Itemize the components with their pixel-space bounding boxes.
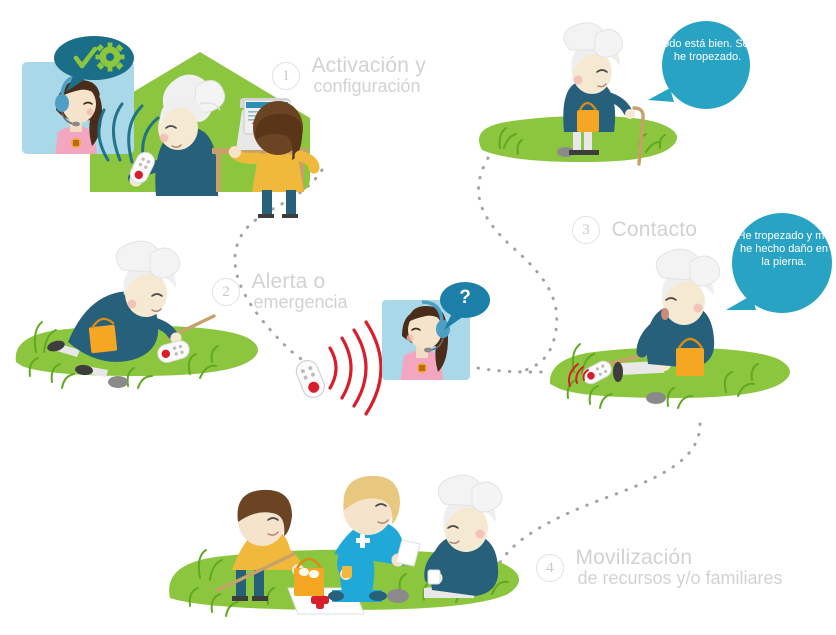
pendant-remote (293, 357, 328, 400)
scene-walking (479, 21, 750, 164)
scene-mobilization (169, 475, 519, 616)
step-number-3: 3 (572, 216, 600, 244)
step-number-1: 1 (272, 62, 300, 90)
gear-icon (96, 43, 125, 72)
elderly-woman-sitting (424, 475, 502, 598)
step-label-4: 4 Movilización de recursos y/o familiare… (536, 548, 783, 588)
connector-walk-contact (479, 158, 557, 372)
step-title-2: Alerta o (251, 270, 325, 293)
step-label-2: 2 Alerta o emergencia (212, 272, 348, 312)
step-subtitle-4: de recursos y/o familiares (575, 569, 782, 588)
step-subtitle-2: emergencia (251, 293, 347, 312)
connector-center-contact (478, 368, 544, 372)
red-signal-waves (330, 322, 381, 414)
step-title-1: Activación y (311, 54, 425, 77)
step-number-4: 4 (536, 554, 564, 582)
step-label-3: 3 Contacto (572, 216, 697, 244)
stone (646, 392, 666, 404)
step-number-2: 2 (212, 278, 240, 306)
step-label-1: 1 Activación y configuración (272, 56, 426, 96)
step-subtitle-1: configuración (311, 77, 425, 96)
connector-contact-mobilization (498, 424, 700, 566)
step-title-3: Contacto (611, 218, 697, 241)
bubble-injury (726, 213, 832, 313)
stone (387, 589, 409, 603)
scene-fall (16, 241, 258, 388)
step-title-4: Movilización (575, 546, 692, 569)
bubble-ok (648, 21, 750, 109)
scene-activation (22, 36, 314, 218)
infographic-canvas: 1 Activación y configuración 2 Alerta o … (0, 0, 836, 635)
stone (108, 376, 128, 388)
elderly-woman-sitting (569, 249, 720, 386)
